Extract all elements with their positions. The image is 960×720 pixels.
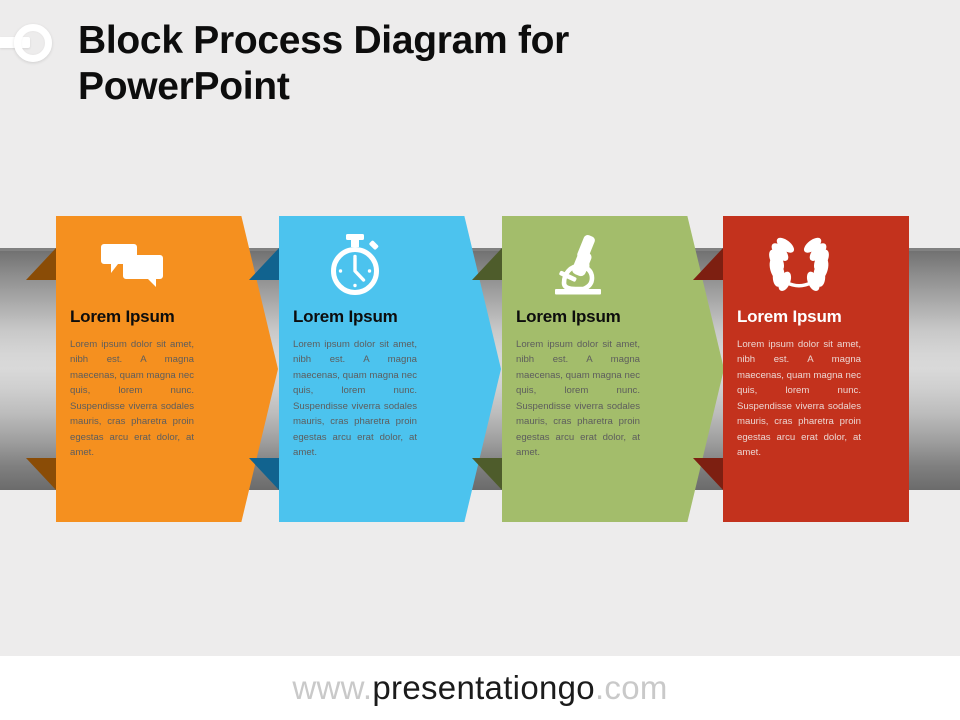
process-block[interactable]: Lorem IpsumLorem ipsum dolor sit amet, n… [502, 216, 724, 522]
block-description: Lorem ipsum dolor sit amet, nibh est. A … [293, 337, 417, 461]
process-blocks: Lorem IpsumLorem ipsum dolor sit amet, n… [0, 0, 960, 720]
block-description: Lorem ipsum dolor sit amet, nibh est. A … [737, 337, 861, 461]
url-brand: presentationgo [372, 669, 595, 706]
site-url[interactable]: www.presentationgo.com [292, 669, 667, 707]
block-content: Lorem IpsumLorem ipsum dolor sit amet, n… [502, 216, 654, 522]
process-block[interactable]: Lorem IpsumLorem ipsum dolor sit amet, n… [279, 216, 501, 522]
block-shadow-notch [26, 458, 56, 490]
block-content: Lorem IpsumLorem ipsum dolor sit amet, n… [723, 216, 875, 522]
block-content: Lorem IpsumLorem ipsum dolor sit amet, n… [279, 216, 431, 522]
process-block[interactable]: Lorem IpsumLorem ipsum dolor sit amet, n… [723, 216, 909, 522]
block-title: Lorem Ipsum [737, 308, 861, 327]
block-title: Lorem Ipsum [70, 308, 194, 327]
url-suffix: .com [595, 669, 668, 706]
footer-bar: www.presentationgo.com [0, 656, 960, 720]
chat-bubbles-icon [70, 216, 194, 308]
process-block[interactable]: Lorem IpsumLorem ipsum dolor sit amet, n… [56, 216, 278, 522]
laurel-wreath-icon [737, 216, 861, 308]
block-title: Lorem Ipsum [293, 308, 417, 327]
url-prefix: www. [292, 669, 372, 706]
block-shadow-notch [26, 248, 56, 280]
block-description: Lorem ipsum dolor sit amet, nibh est. A … [516, 337, 640, 461]
block-description: Lorem ipsum dolor sit amet, nibh est. A … [70, 337, 194, 461]
slide-canvas: Block Process Diagram for PowerPoint Lor… [0, 0, 960, 720]
block-content: Lorem IpsumLorem ipsum dolor sit amet, n… [56, 216, 208, 522]
block-title: Lorem Ipsum [516, 308, 640, 327]
stopwatch-icon [293, 216, 417, 308]
microscope-icon [516, 216, 640, 308]
